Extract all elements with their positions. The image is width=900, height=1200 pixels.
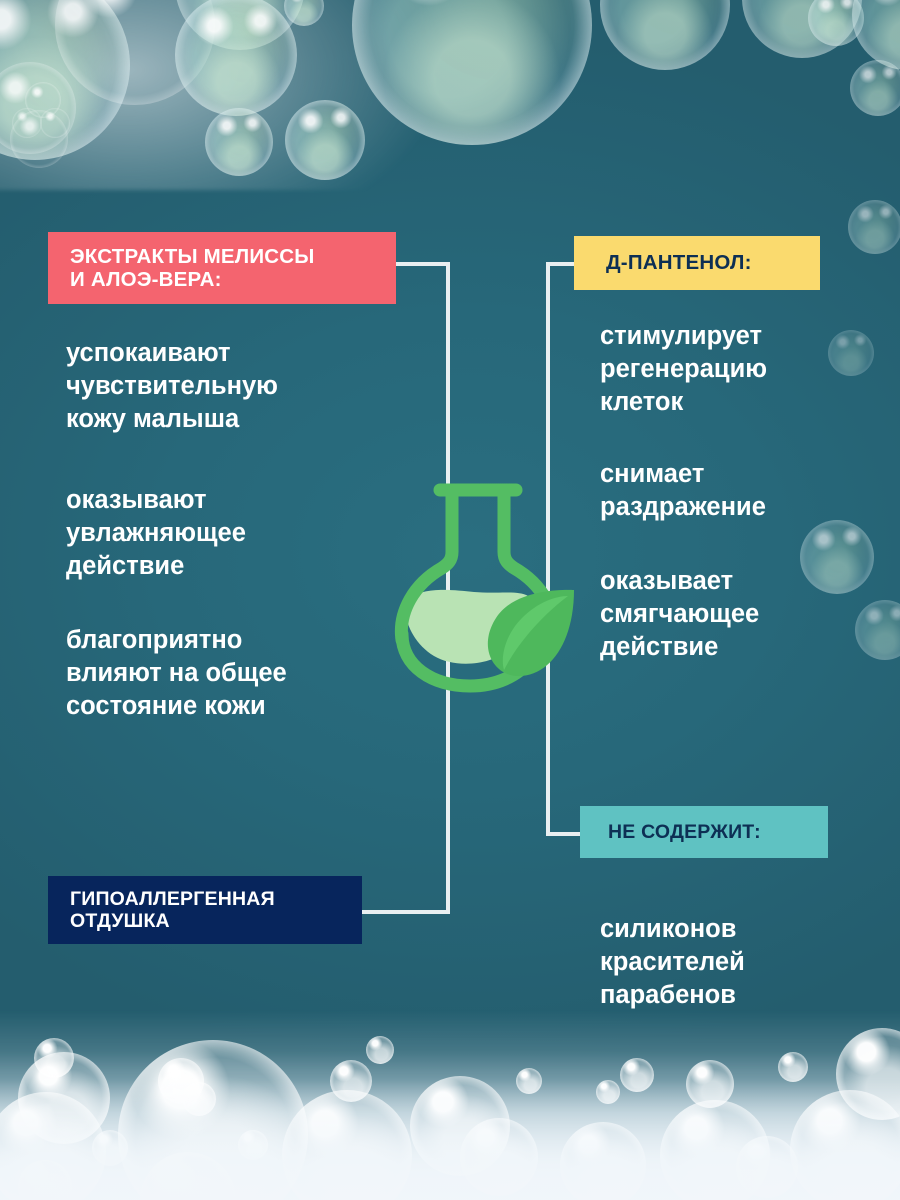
heading-free-from: НЕ СОДЕРЖИТ: bbox=[580, 806, 828, 858]
benefit-panthenol-1: стимулирует регенерацию клеток bbox=[600, 320, 870, 419]
bubble-top-15 bbox=[852, 0, 900, 70]
bubble-top-18 bbox=[850, 60, 900, 116]
heading-melissa-aloe-label: ЭКСТРАКТЫ МЕЛИССЫ И АЛОЭ-ВЕРА: bbox=[70, 245, 315, 292]
top-haze-decoration bbox=[0, 0, 440, 190]
bubble-mid-1 bbox=[848, 200, 900, 254]
free-from-list: силиконов красителей парабенов bbox=[600, 913, 880, 1012]
benefit-melissa-2: оказывают увлажняющее действие bbox=[66, 484, 386, 583]
foam-bed-front-decoration bbox=[0, 1080, 900, 1200]
heading-panthenol-label: Д-ПАНТЕНОЛ: bbox=[606, 251, 752, 274]
benefit-panthenol-2: снимает раздражение bbox=[600, 458, 880, 524]
benefit-melissa-1: успокаивают чувствительную кожу малыша bbox=[66, 337, 386, 436]
bubble-top-14 bbox=[808, 0, 864, 46]
heading-panthenol: Д-ПАНТЕНОЛ: bbox=[574, 236, 820, 290]
connector-melissa-horizontal bbox=[396, 262, 450, 266]
benefit-panthenol-3: оказывает смягчающее действие bbox=[600, 565, 880, 664]
bubble-top-12 bbox=[600, 0, 730, 70]
connector-hypo-horizontal bbox=[362, 910, 450, 914]
heading-hypoallergenic: ГИПОАЛЛЕРГЕННАЯ ОТДУШКА bbox=[48, 876, 362, 944]
heading-melissa-aloe: ЭКСТРАКТЫ МЕЛИССЫ И АЛОЭ-ВЕРА: bbox=[48, 232, 396, 304]
connector-free-horizontal bbox=[546, 832, 582, 836]
poster-canvas: ЭКСТРАКТЫ МЕЛИССЫ И АЛОЭ-ВЕРА: Д-ПАНТЕНО… bbox=[0, 0, 900, 1200]
heading-free-from-label: НЕ СОДЕРЖИТ: bbox=[608, 821, 761, 843]
heading-hypoallergenic-label: ГИПОАЛЛЕРГЕННАЯ ОТДУШКА bbox=[70, 888, 275, 932]
connector-panthenol-horizontal bbox=[546, 262, 576, 266]
bubble-top-13 bbox=[742, 0, 862, 58]
benefit-melissa-3: благоприятно влияют на общее состояние к… bbox=[66, 624, 396, 723]
flask-with-leaf-icon bbox=[378, 468, 578, 693]
